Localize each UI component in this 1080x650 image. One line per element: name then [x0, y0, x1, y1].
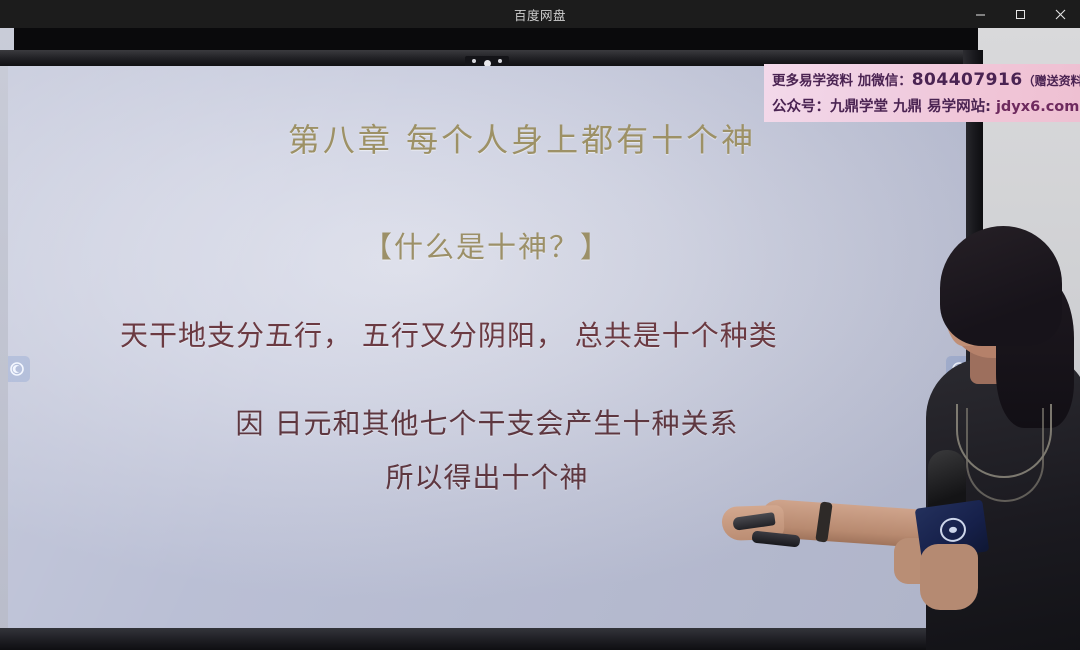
webcam-led-left: [472, 59, 476, 63]
presenter-hand-holding-mic: [920, 544, 978, 610]
window-title: 百度网盘: [514, 5, 566, 24]
presenter-hair: [940, 226, 1062, 346]
video-player-stage[interactable]: 第八章 每个人身上都有十个神 【什么是十神？】 天干地支分五行， 五行又分阴阳，…: [0, 28, 1080, 650]
slide-screen: 第八章 每个人身上都有十个神 【什么是十神？】 天干地支分五行， 五行又分阴阳，…: [8, 66, 966, 628]
minimize-button[interactable]: [960, 0, 1000, 28]
promo-website-url: jdyx6.com: [996, 99, 1079, 115]
minimize-icon: [975, 9, 986, 20]
baidu-netdisk-window: 百度网盘: [0, 0, 1080, 650]
promo-wechat-number: 804407916: [912, 70, 1023, 90]
slide-body-line-1: 天干地支分五行， 五行又分阴阳， 总共是十个种类: [8, 316, 966, 356]
window-controls: [960, 0, 1080, 28]
presenter-necklace-inner: [966, 408, 1044, 502]
promo-gift-note: （赠送资料）: [1023, 74, 1080, 88]
slide-subtitle: 【什么是十神？】: [8, 224, 966, 266]
slide-title-container: 第八章 每个人身上都有十个神: [8, 118, 966, 162]
webcam-led-right: [498, 59, 502, 63]
promo-wechat-label: 更多易学资料 加微信：: [772, 73, 912, 89]
slide-title: 第八章 每个人身上都有十个神: [288, 118, 756, 162]
watermark-left-icon: [8, 356, 30, 382]
microphone-logo-icon: [938, 516, 967, 543]
close-icon: [1055, 9, 1066, 20]
close-button[interactable]: [1040, 0, 1080, 28]
window-titlebar[interactable]: 百度网盘: [0, 0, 1080, 28]
promo-line-1: 更多易学资料 加微信：804407916（赠送资料）: [772, 68, 1074, 94]
whiteboard-bezel-bottom: [0, 628, 980, 650]
slide-body-line-2: 因 日元和其他七个干支会产生十种关系: [8, 402, 966, 442]
promo-account-label: 公众号：九鼎学堂 九鼎 易学网站:: [772, 99, 996, 115]
presenter-figure: [900, 208, 1080, 650]
maximize-button[interactable]: [1000, 0, 1040, 28]
promo-line-2: 公众号：九鼎学堂 九鼎 易学网站: jdyx6.com: [772, 94, 1074, 121]
maximize-icon: [1015, 9, 1026, 20]
slide-body-line-3: 所以得出十个神: [8, 456, 966, 496]
promo-overlay-banner: 更多易学资料 加微信：804407916（赠送资料） 公众号：九鼎学堂 九鼎 易…: [764, 64, 1080, 122]
